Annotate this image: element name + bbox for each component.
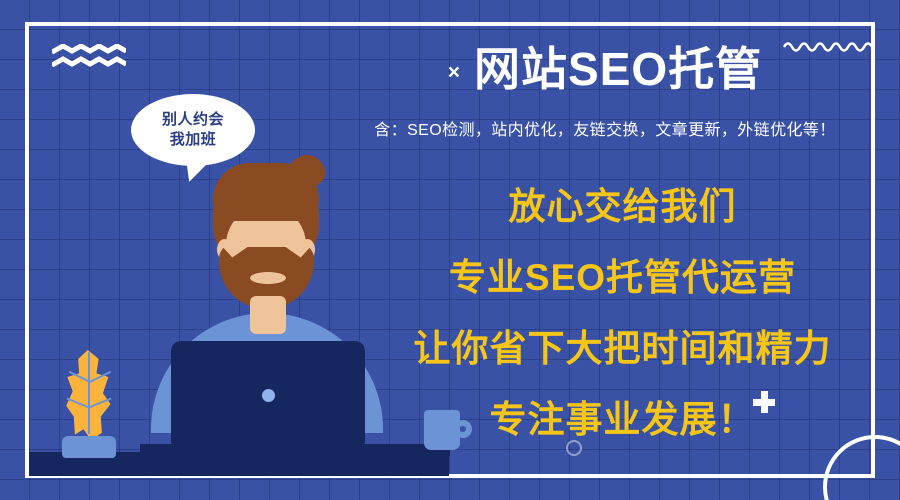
person-neck bbox=[250, 296, 286, 334]
page-title: × 网站SEO托管 bbox=[340, 46, 870, 92]
double-zigzag-icon bbox=[52, 44, 126, 70]
circle-outline-icon bbox=[823, 435, 900, 500]
laptop-logo-dot bbox=[262, 389, 275, 402]
slogan-line-1: 放心交给我们 bbox=[395, 188, 850, 225]
page-subtitle: 含：SEO检测，站内优化，友链交换，文章更新，外链优化等！ bbox=[330, 116, 880, 140]
leaf-vein-center bbox=[88, 352, 90, 434]
x-bullet-icon: × bbox=[448, 62, 460, 83]
speech-bubble-line-1: 别人约会 bbox=[162, 110, 224, 130]
seo-hosting-poster: 别人约会 我加班 × 网站SEO托管 含：SEO检测，站内优化，友链交换，文章更… bbox=[0, 0, 900, 500]
slogan-block: 放心交给我们 专业SEO托管代运营 让你省下大把时间和精力 专注事业发展！ bbox=[395, 188, 850, 438]
person-fringe bbox=[213, 163, 319, 221]
speech-bubble: 别人约会 我加班 bbox=[131, 94, 255, 166]
person-mouth bbox=[250, 272, 286, 284]
speech-bubble-line-2: 我加班 bbox=[170, 130, 217, 150]
small-ring-icon bbox=[566, 440, 582, 456]
plant-pot bbox=[62, 436, 116, 458]
slogan-line-4: 专注事业发展！ bbox=[395, 401, 850, 438]
page-title-text: 网站SEO托管 bbox=[474, 46, 762, 92]
potted-plant-icon bbox=[63, 350, 117, 440]
slogan-line-2: 专业SEO托管代运营 bbox=[395, 259, 850, 296]
slogan-line-3: 让你省下大把时间和精力 bbox=[395, 330, 850, 367]
